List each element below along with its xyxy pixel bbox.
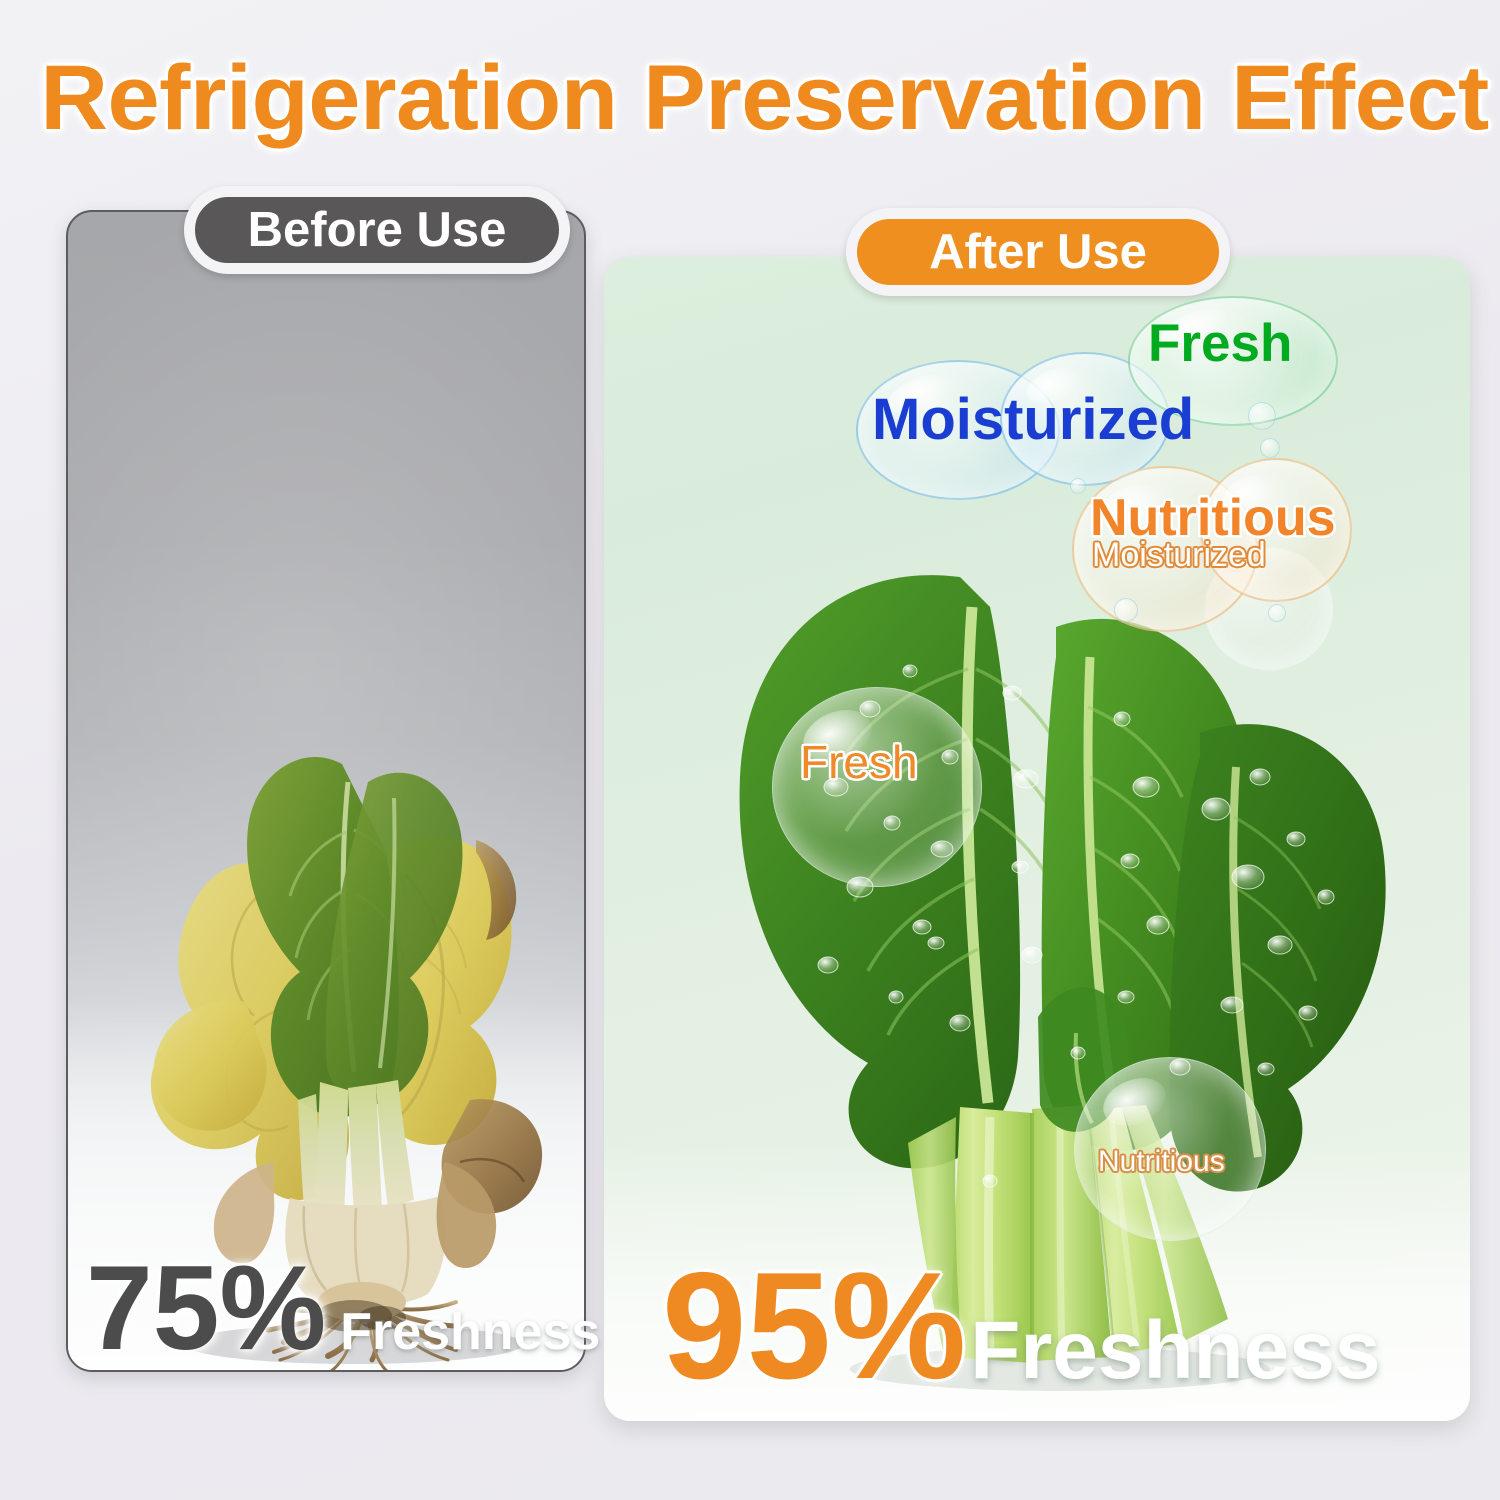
mini-bubble-c <box>1070 478 1086 494</box>
mini-bubble-b <box>1260 438 1280 458</box>
bubble-label-fresh: Fresh <box>1148 313 1292 374</box>
before-use-panel <box>66 210 586 1372</box>
badge-after-use: After Use <box>846 208 1230 296</box>
badge-before-use: Before Use <box>184 186 570 274</box>
overlay-label-fresh: Fresh <box>800 735 918 789</box>
mini-bubble-e <box>1268 604 1286 622</box>
mini-bubble-d <box>1114 598 1138 622</box>
overlay-label-nutritious: Nutritious <box>1098 1145 1225 1179</box>
after-freshness-percent: 95% <box>662 1250 966 1402</box>
after-freshness-label: Freshness <box>970 1310 1380 1392</box>
mini-bubble-a <box>1248 402 1276 430</box>
before-freshness-stat: 75% Freshness <box>86 1248 600 1368</box>
page-title: Refrigeration Preservation Effect <box>26 46 1500 150</box>
bubble-label-moisturized-secondary: Moisturized <box>1092 536 1266 575</box>
poster-canvas: Refrigeration Preservation Effect <box>0 0 1500 1500</box>
before-freshness-label: Freshness <box>340 1306 600 1358</box>
before-freshness-percent: 75% <box>86 1248 326 1368</box>
bubble-label-moisturized: Moisturized <box>872 386 1194 453</box>
after-freshness-stat: 95% Freshness <box>662 1250 1380 1402</box>
